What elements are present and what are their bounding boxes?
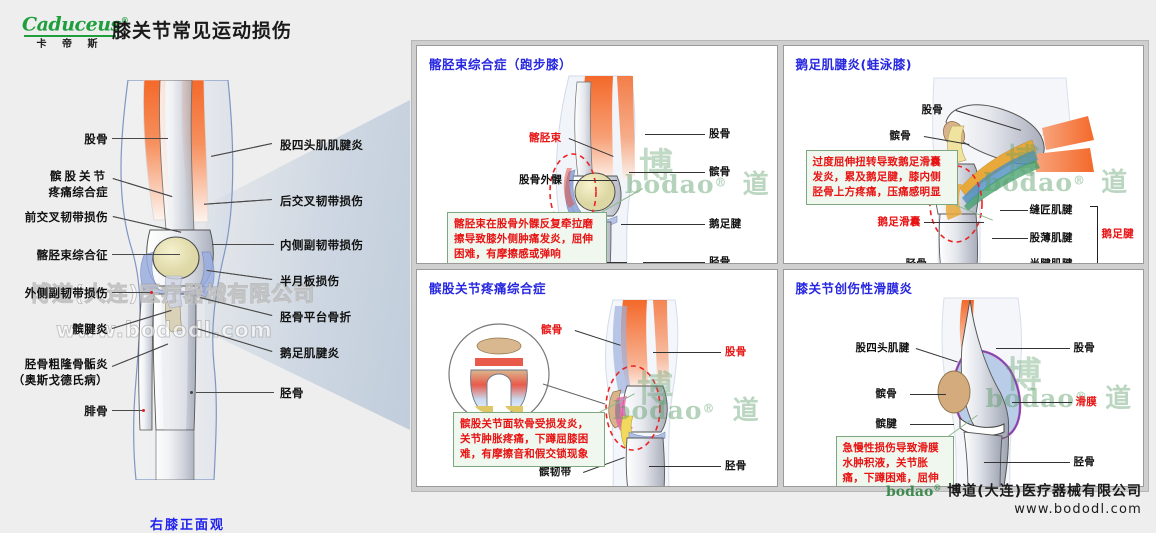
panel-pes-anserine-bracket <box>1090 206 1098 264</box>
panel-pes-anserine-label-tibia: 胫骨 <box>906 258 928 264</box>
panel-itbs-label-pes-anserinus: 鹅足腱 <box>709 218 741 231</box>
brand-logo-rule <box>24 35 116 37</box>
panel-synovitis-body: 博 bodao® 道 股四头肌腱 股骨 髌骨 滑膜 髌腱 胫骨 急慢性损伤导致滑… <box>784 270 1144 487</box>
poster-root: Caduceus® 卡 帝 斯 膝关节常见运动损伤 <box>0 0 1156 524</box>
panel-pes-anserine[interactable]: 鹅足肌腱炎(蛙泳膝) <box>783 45 1145 264</box>
panel-synovitis-label-patella: 髌骨 <box>876 388 898 401</box>
figure-label-acl: 前交叉韧带损伤 <box>0 210 108 224</box>
knee-anterior-view-illustration <box>110 80 250 480</box>
figure-label-osgood-line1: 胫骨粗隆骨骺炎 <box>0 357 108 371</box>
panel-pes-anserine-label-patella: 髌骨 <box>890 130 912 143</box>
figure-label-patellar-tendinitis: 髌腱炎 <box>0 322 108 336</box>
figure-label-lcl: 外侧副韧带损伤 <box>0 286 108 300</box>
figure-label-pfps-line2: 疼痛综合症 <box>0 185 108 199</box>
main-figure-pane: 博道(大连)医疗器械有限公司 www.bododl.com 股骨 髌股关节 疼痛… <box>0 56 400 486</box>
figure-label-meniscus: 半月板损伤 <box>280 274 340 288</box>
panel-grid: 髂胫束综合症（跑步膝） <box>411 40 1149 492</box>
panel-pes-anserine-label-pes-anserinus: 鹅足腱 <box>1102 228 1134 241</box>
footer-company-line: bodao® 博道(大连)医疗器械有限公司 <box>886 478 1142 501</box>
panel-pfps-label-patellar-ligament: 髌韧带 <box>539 466 571 479</box>
marker-dot-lcl <box>150 291 153 294</box>
leader-lcl <box>112 292 152 293</box>
panel-pes-anserine-label-bursa: 鹅足滑囊 <box>878 216 921 229</box>
figure-label-osgood-line2: （奥斯戈德氏病） <box>0 373 108 387</box>
panel-pes-anserine-label-femur: 股骨 <box>922 104 944 117</box>
panel-synovitis-label-tibia: 胫骨 <box>1074 456 1096 469</box>
panel-pfps-label-tibia: 胫骨 <box>725 460 747 473</box>
panel-pes-anserine-label-semitendinosus: 半腱肌腱 <box>1030 258 1073 264</box>
panel-pfps[interactable]: 髌股关节疼痛综合症 <box>416 269 778 488</box>
brand-logo-cn: 卡 帝 斯 <box>22 39 118 51</box>
leader-femur-left <box>112 138 168 139</box>
leader-mcl <box>212 244 274 245</box>
panel-itbs-label-lateral-femoral-epicondyle: 股骨外髁 <box>519 174 562 187</box>
figure-label-itbs: 髂胫束综合征 <box>0 248 108 262</box>
brand-logo: Caduceus® 卡 帝 斯 <box>22 10 118 50</box>
panel-pes-anserine-leader-bursa <box>924 222 984 223</box>
marker-dot-tibia <box>190 391 193 394</box>
panel-itbs-note: 髂胫束在股骨外髁反复牵拉磨擦导致膝外侧肿痛发炎，屈伸困难，有摩擦感或弹响 <box>447 212 607 264</box>
panel-pes-anserine-label-gracilis: 股薄肌腱 <box>1030 232 1073 245</box>
panel-synovitis[interactable]: 膝关节创伤性滑膜炎 <box>783 269 1145 488</box>
panel-synovitis-leader-patellar-tendon <box>910 424 954 425</box>
panel-pes-anserine-body: 博 bodao® 道 股骨 髌骨 鹅足滑囊 胫骨 缝匠肌腱 股薄肌腱 半腱肌腱 <box>784 46 1144 263</box>
leader-tibia-right <box>196 392 274 393</box>
figure-label-pfps-line1: 髌股关节 <box>0 169 108 183</box>
panel-pes-anserine-label-sartorius: 缝匠肌腱 <box>1030 204 1073 217</box>
panel-synovitis-label-femur: 股骨 <box>1074 342 1096 355</box>
figure-label-tibia-right: 胫骨 <box>280 386 304 400</box>
page-title: 膝关节常见运动损伤 <box>112 16 292 43</box>
footer: bodao® 博道(大连)医疗器械有限公司 www.bododl.com <box>886 478 1142 518</box>
panel-pfps-label-femur: 股骨 <box>725 346 747 359</box>
marker-dot-fibula <box>142 409 145 412</box>
panel-pfps-leader-tibia <box>649 466 721 467</box>
panel-itbs-leader-pes-anserinus <box>621 224 705 225</box>
panel-itbs-body: 博 bodao® 道 髂胫束 股骨外髁 股骨 髌骨 鹅足腱 腓骨 胫骨 <box>417 46 777 263</box>
figure-label-tibial-plateau-fracture: 胫骨平台骨折 <box>280 310 351 324</box>
panel-itbs-leader-patella <box>629 172 705 173</box>
panel-itbs-leader-lateral-femoral-epicondyle <box>569 180 617 181</box>
panel-pfps-label-patella: 髌骨 <box>541 324 563 337</box>
figure-label-mcl: 内侧副韧带损伤 <box>280 238 363 252</box>
panel-pfps-body: 博 bodao® 道 髌骨 股骨 髌韧带 胫骨 髌股关节面软骨受损发炎，关节肿胀… <box>417 270 777 487</box>
footer-brand-mark: bodao® <box>886 484 941 500</box>
panel-pes-anserine-leader-sartorius <box>1000 210 1028 211</box>
figure-label-pcl: 后交叉韧带损伤 <box>280 194 363 208</box>
panel-itbs[interactable]: 髂胫束综合症（跑步膝） <box>416 45 778 264</box>
panel-pfps-note: 髌股关节面软骨受损发炎，关节肿胀疼痛，下蹲屈膝困难，有摩擦音和假交锁现象 <box>453 412 605 467</box>
panel-synovitis-leader-femur <box>996 348 1070 349</box>
panel-synovitis-leader-patella <box>910 394 946 395</box>
panel-itbs-label-tibia: 胫骨 <box>709 256 731 264</box>
figure-label-fibula-left: 腓骨 <box>0 404 108 418</box>
panel-pes-anserine-leader-gracilis <box>992 238 1028 239</box>
panel-itbs-leader-tibia <box>643 262 705 263</box>
figure-label-quadriceps-tendinitis: 股四头肌肌腱炎 <box>280 138 363 152</box>
panel-synovitis-leader-synovium <box>1012 402 1072 403</box>
panel-itbs-label-patella: 髌骨 <box>709 166 731 179</box>
panel-pfps-leader-femur <box>653 352 721 353</box>
panel-synovitis-label-quadriceps-tendon: 股四头肌腱 <box>856 342 910 355</box>
panel-itbs-leader-femur <box>645 134 705 135</box>
panel-itbs-label-iliotibial-band: 髂胫束 <box>529 132 561 145</box>
footer-website: www.bododl.com <box>886 501 1142 518</box>
footer-company-name: 博道(大连)医疗器械有限公司 <box>947 484 1142 500</box>
leader-itbs <box>112 254 180 255</box>
panel-synovitis-label-patellar-tendon: 髌腱 <box>876 418 898 431</box>
figure-label-pes-anserine-tendinitis: 鹅足肌腱炎 <box>280 346 340 360</box>
panel-synovitis-label-synovium: 滑膜 <box>1076 396 1098 409</box>
panel-synovitis-leader-tibia <box>984 462 1070 463</box>
leader-fibula-left <box>112 410 142 411</box>
panel-itbs-label-femur: 股骨 <box>709 128 731 141</box>
panel-pes-anserine-note: 过度屈伸扭转导致鹅足滑囊发炎，累及鹅足腱，膝内侧胫骨上方疼痛，压痛感明显 <box>806 150 958 205</box>
figure-label-femur-left: 股骨 <box>0 132 108 146</box>
